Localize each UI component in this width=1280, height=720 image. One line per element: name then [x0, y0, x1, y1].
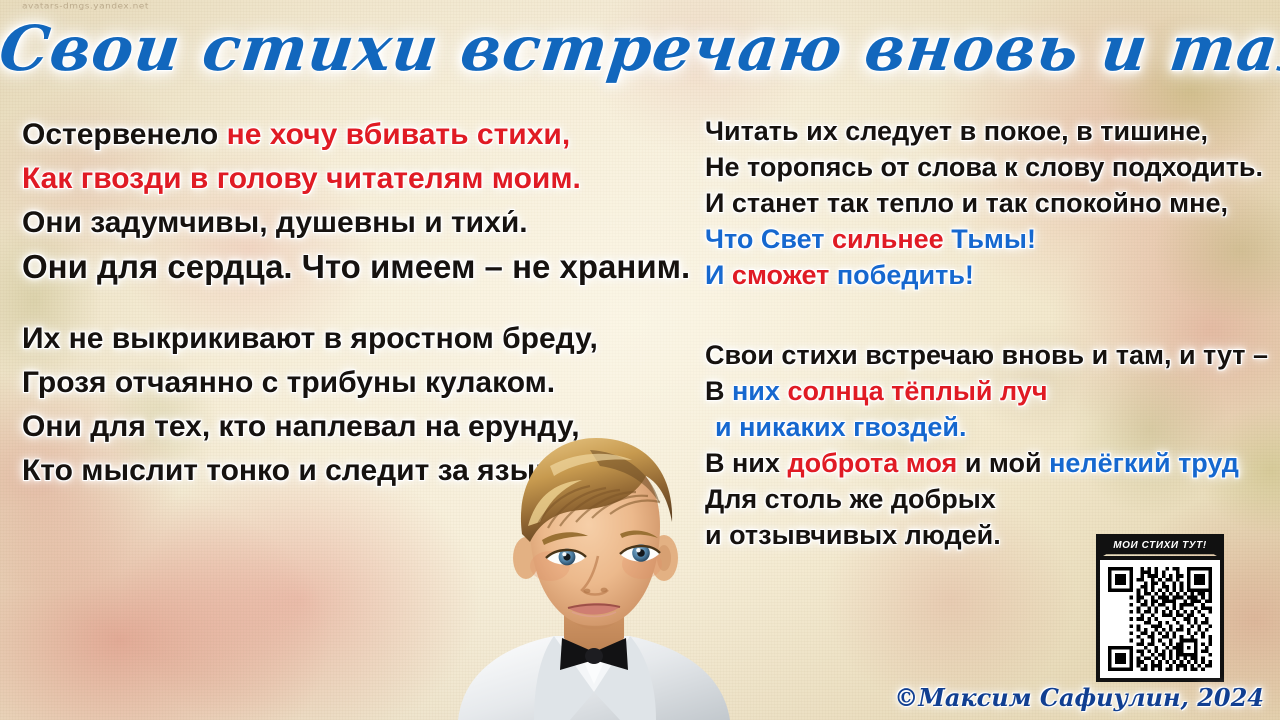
poem-text-run: и мой — [965, 448, 1049, 478]
poem-line: И сможет победить! — [705, 257, 1265, 293]
stanza-left-1: Остервенело не хочу вбивать стихи,Как гв… — [22, 113, 662, 289]
poem-line: и никаких гвоздей. — [705, 409, 1265, 445]
page-title: Свои стихи встречаю вновь и там, и тут… — [0, 14, 1280, 84]
poem-text-run: них — [732, 376, 787, 406]
poem-line: И станет так тепло и так спокойно мне, — [705, 185, 1265, 221]
poem-line: Остервенело не хочу вбивать стихи, — [22, 113, 662, 157]
poem-text-run: Читать их следует в покое, в тишине, — [705, 116, 1208, 146]
poem-text-run: И станет так тепло и так спокойно мне, — [705, 188, 1228, 218]
poem-poster: avatars-dmgs.yandex.net Свои стихи встре… — [0, 0, 1280, 720]
qr-matrix — [1107, 567, 1213, 671]
stanza-right-2: Свои стихи встречаю вновь и там, и тут –… — [705, 337, 1265, 553]
poem-line: В них солнца тёплый луч — [705, 373, 1265, 409]
poem-text-run: Что Свет — [705, 224, 832, 254]
qr-badge[interactable]: МОИ СТИХИ ТУТ! — [1096, 534, 1224, 682]
poem-text-run: Не торопясь от слова к слову подходить. — [705, 152, 1263, 182]
poem-line: Грозя отчаянно с трибуны кулаком. — [22, 361, 662, 405]
poem-line: Их не выкрикивают в яростном бреду, — [22, 317, 662, 361]
poem-text-run: И — [705, 260, 732, 290]
poem-text-run: Тьмы! — [951, 224, 1036, 254]
poem-text-run: Они задумчивы, душевны и тихи́. — [22, 206, 528, 239]
stanza-right-1: Читать их следует в покое, в тишине,Не т… — [705, 113, 1265, 293]
poem-line: Они для сердца. Что имеем – не храним. — [22, 245, 662, 289]
poem-text-run: солнца тёплый луч — [787, 376, 1047, 406]
poem-line: Не торопясь от слова к слову подходить. — [705, 149, 1265, 185]
poem-text-run: Как гвозди в голову читателям моим. — [22, 162, 581, 195]
poem-text-run: не хочу вбивать стихи, — [227, 118, 571, 151]
poem-text-run: сможет — [732, 260, 837, 290]
poem-line: Свои стихи встречаю вновь и там, и тут – — [705, 337, 1265, 373]
copyright-signature: ©Максим Сафиулин, 2024 — [894, 683, 1264, 712]
poem-text-run: В — [705, 376, 732, 406]
poem-text-run: сильнее — [832, 224, 951, 254]
poem-line: Для столь же добрых — [705, 481, 1265, 517]
poem-line: Они задумчивы, душевны и тихи́. — [22, 201, 662, 245]
qr-code-icon[interactable] — [1096, 556, 1224, 682]
poem-text-run: победить! — [837, 260, 974, 290]
poem-text-run: Грозя отчаянно с трибуны кулаком. — [22, 366, 555, 399]
poem-text-run: нелёгкий труд — [1049, 448, 1239, 478]
poem-column-right: Читать их следует в покое, в тишине,Не т… — [705, 113, 1265, 553]
source-watermark: avatars-dmgs.yandex.net — [22, 3, 149, 12]
poem-text-run: доброта моя — [787, 448, 964, 478]
poem-line: Читать их следует в покое, в тишине, — [705, 113, 1265, 149]
poem-text-run: Их не выкрикивают в яростном бреду, — [22, 322, 598, 355]
poem-text-run: Свои стихи встречаю вновь и там, и тут – — [705, 340, 1268, 370]
poem-line: В них доброта моя и мой нелёгкий труд — [705, 445, 1265, 481]
poem-text-run: Они для сердца. Что имеем – не храним. — [22, 248, 690, 285]
poem-text-run: и никаких гвоздей. — [715, 412, 966, 442]
qr-ribbon-label: МОИ СТИХИ ТУТ! — [1113, 540, 1207, 551]
poem-line: Что Свет сильнее Тьмы! — [705, 221, 1265, 257]
poem-text-run: Остервенело — [22, 118, 227, 151]
poem-line: Как гвозди в голову читателям моим. — [22, 157, 662, 201]
author-portrait — [430, 430, 750, 720]
